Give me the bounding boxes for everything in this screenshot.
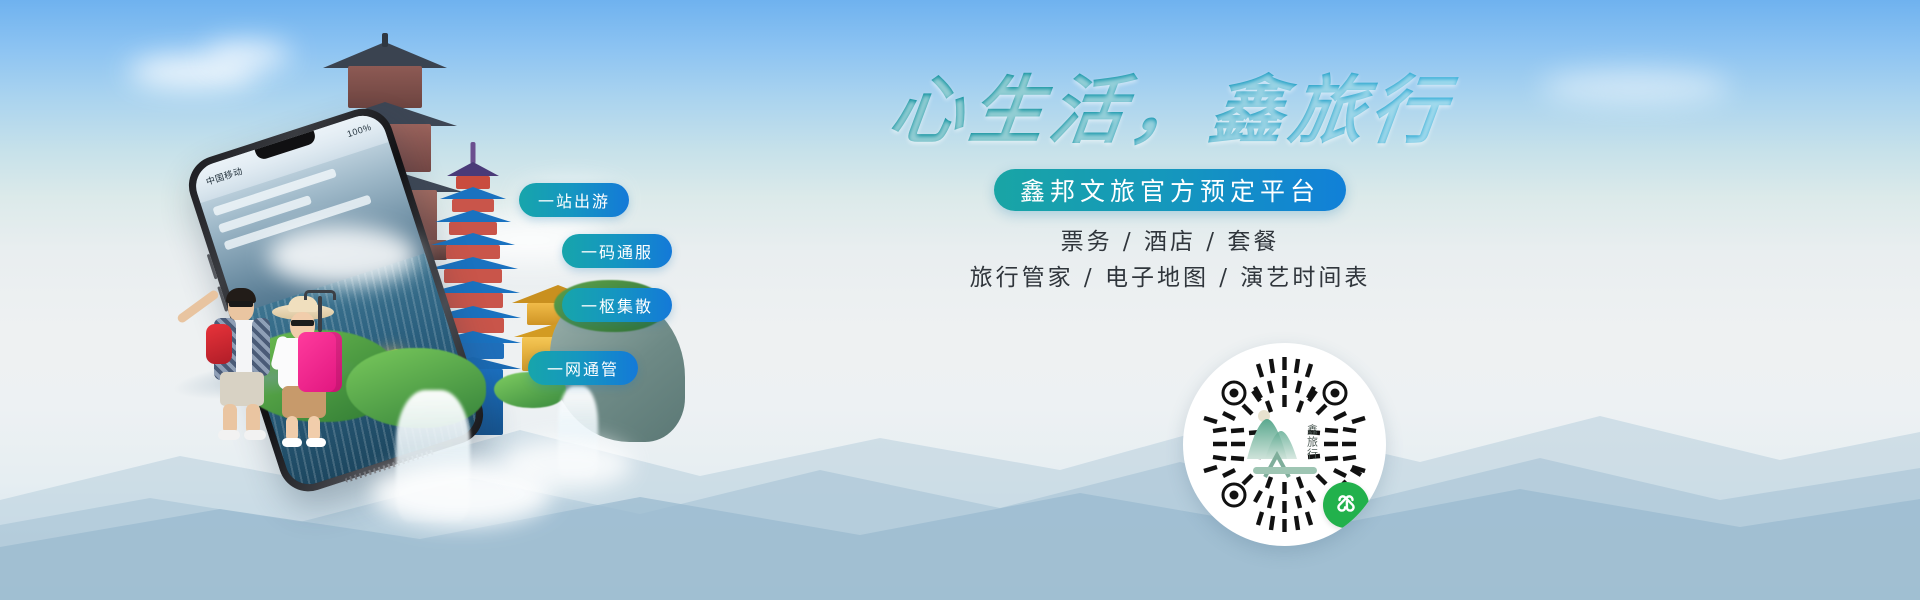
- male-sunglasses: [229, 301, 253, 307]
- official-platform-badge[interactable]: 鑫邦文旅官方预定平台: [994, 169, 1346, 211]
- phone-status-battery: 100%: [346, 122, 373, 139]
- female-sunglasses: [291, 320, 314, 326]
- feature-pill-one-hub-transfer[interactable]: 一枢集散: [562, 288, 672, 322]
- service-list-line-2: 旅行管家 / 电子地图 / 演艺时间表: [820, 261, 1520, 295]
- travel-promo-banner: 中国移动 100%: [0, 0, 1920, 600]
- pink-suitcase: [298, 332, 342, 392]
- wechat-miniprogram-icon[interactable]: [1323, 482, 1369, 528]
- female-shoe-left: [282, 438, 302, 447]
- male-arm-pointing: [176, 289, 220, 324]
- female-shoe-right: [306, 438, 326, 447]
- phone-volume-button: [207, 254, 218, 280]
- mist-3: [502, 438, 632, 490]
- qr-brand-logo: [1237, 403, 1333, 481]
- miniprogram-qr-code[interactable]: 鑫旅行: [1183, 343, 1386, 546]
- banner-headline: 心生活，鑫旅行: [815, 70, 1525, 153]
- male-shoe-left: [218, 430, 240, 440]
- service-list-line-1: 票务 / 酒店 / 套餐: [820, 225, 1520, 259]
- phone-status-carrier: 中国移动: [204, 164, 244, 188]
- mist-1: [268, 226, 418, 286]
- qr-brand-label: 鑫旅行: [1305, 424, 1318, 460]
- cloud-5: [1540, 70, 1730, 104]
- feature-pill-one-network-management[interactable]: 一网通管: [528, 351, 638, 385]
- feature-pill-one-stop-travel[interactable]: 一站出游: [519, 183, 629, 217]
- banner-text-block: 心生活，鑫旅行 鑫邦文旅官方预定平台 票务 / 酒店 / 套餐 旅行管家 / 电…: [820, 70, 1520, 295]
- male-shorts: [220, 372, 264, 406]
- miniprogram-glyph: [1332, 491, 1360, 519]
- male-backpack: [206, 324, 232, 364]
- feature-pill-one-code-service[interactable]: 一码通服: [562, 234, 672, 268]
